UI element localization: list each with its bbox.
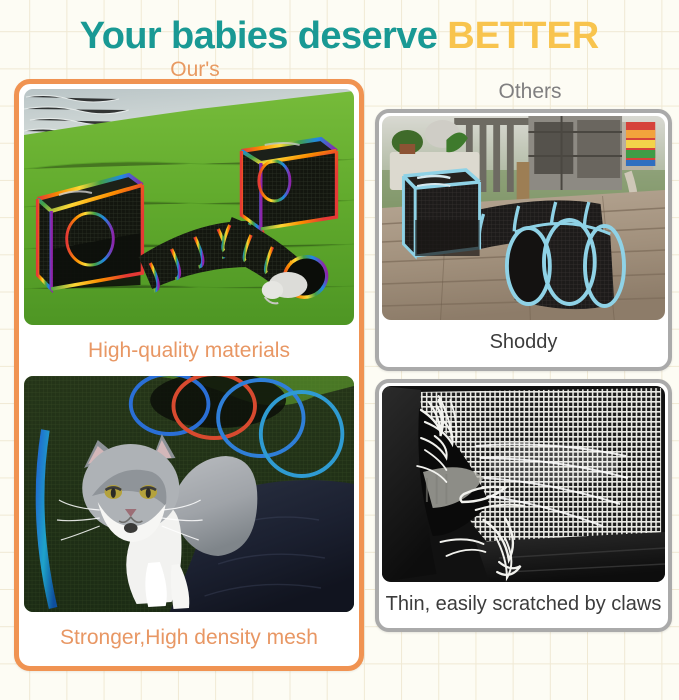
- comparison-card-ours: High-quality materials: [14, 79, 364, 671]
- comparison-card-others-bottom: Thin, easily scratched by claws: [375, 379, 672, 632]
- others-caption-thin: Thin, easily scratched by claws: [382, 582, 665, 626]
- comparison-card-others-top: Shoddy: [375, 109, 672, 371]
- page-title-primary: Your babies deserve: [80, 15, 447, 57]
- torn-mesh-illustration: [382, 386, 665, 582]
- page-title-emphasis: BETTER: [447, 15, 599, 57]
- ours-block-materials: High-quality materials: [24, 89, 354, 374]
- ours-block-mesh: Stronger,High density mesh: [24, 376, 354, 661]
- ours-photo-playpen: [24, 89, 354, 325]
- others-photo-torn-mesh: [382, 386, 665, 582]
- page-canvas: Your babies deserve BETTER Our's Others: [0, 0, 679, 700]
- ours-caption-mesh: Stronger,High density mesh: [24, 614, 354, 661]
- column-label-others: Others: [455, 80, 605, 104]
- playpen-grass-illustration: [24, 89, 354, 325]
- others-caption-shoddy: Shoddy: [382, 320, 665, 364]
- page-title: Your babies deserve BETTER: [0, 14, 679, 58]
- others-photo-deck-tents: [382, 116, 665, 320]
- ours-photo-cat: [24, 376, 354, 612]
- cat-in-playpen-illustration: [24, 376, 354, 612]
- ours-caption-materials: High-quality materials: [24, 327, 354, 374]
- competitor-tent-deck-illustration: [382, 116, 665, 320]
